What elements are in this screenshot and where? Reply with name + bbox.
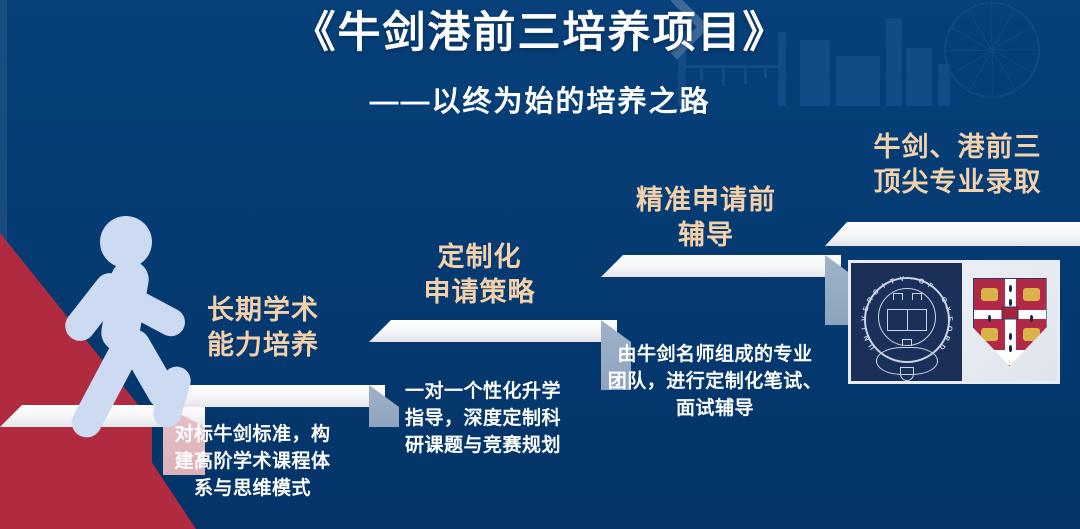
oxford-ring-char: R	[866, 296, 875, 304]
oxford-ring-char: F	[945, 316, 952, 321]
oxford-ring-char: O	[939, 296, 948, 304]
stair-step-2-description: 一对一个性化升学 指导，深度定制科 研课题与竞赛规划	[383, 379, 583, 460]
oxford-ring-char: I	[881, 283, 886, 290]
oxford-ring-char: E	[862, 306, 870, 313]
stair-step-3	[369, 320, 617, 342]
oxford-ring-char: O	[917, 278, 924, 286]
oxford-ring-char: V	[861, 316, 868, 321]
university-of-cambridge-coat-of-arms	[962, 263, 1057, 381]
stair-step-4-heading: 牛剑、港前三 顶尖专业录取	[845, 130, 1070, 200]
shield-lion-icon	[1023, 328, 1040, 341]
stair-step-1-description: 对标牛剑标准，构 建高阶学术课程体 系与思维模式	[155, 422, 350, 503]
oxford-ring-char: R	[942, 334, 950, 341]
cambridge-book-icon	[1001, 307, 1018, 320]
stair-step-2-heading: 定制化 申请策略	[382, 240, 577, 310]
oxford-ring-char: O	[945, 325, 953, 331]
university-logos-plate: UNIVERSITY·OF·OXFORD	[848, 260, 1060, 384]
oxford-ring-char: X	[943, 306, 951, 313]
ermine-mark	[1009, 299, 1012, 306]
stair-step-4-tread	[601, 255, 841, 277]
oxford-ring-char: ·	[934, 289, 941, 296]
ermine-mark	[1009, 345, 1012, 352]
oxford-ring-char: F	[926, 282, 933, 290]
university-of-oxford-crest: UNIVERSITY·OF·OXFORD	[851, 263, 962, 381]
ermine-mark	[1030, 315, 1033, 322]
stair-step-3-tread	[369, 320, 617, 342]
stair-step-5-tread	[825, 222, 1080, 246]
poster-canvas: 《牛剑港前三培养项目》 ——以终为始的培养之路 长期学术 能力培养 对标牛剑标准…	[0, 0, 1080, 529]
cambridge-shield	[973, 278, 1047, 366]
oxford-ring-char: I	[861, 327, 868, 330]
shield-lion-icon	[1023, 288, 1040, 301]
oxford-ring-char: D	[937, 342, 946, 350]
shield-lion-icon	[981, 328, 998, 341]
stair-step-3-heading: 精准申请前 辅导	[600, 183, 812, 253]
stair-step-1-heading: 长期学术 能力培养	[168, 293, 358, 363]
ermine-mark	[1009, 333, 1012, 340]
oxford-ring-char: U	[867, 342, 876, 350]
shield-lion-icon	[981, 288, 998, 301]
page-subtitle: ——以终为始的培养之路	[0, 78, 1080, 120]
ermine-mark	[988, 315, 991, 322]
oxford-ring-char: ·	[910, 276, 913, 283]
page-title: 《牛剑港前三培养项目》	[0, 0, 1080, 60]
oxford-ring-text: UNIVERSITY·OF·OXFORD	[855, 270, 959, 374]
oxford-ring-char: S	[872, 288, 880, 296]
stair-step-5	[825, 222, 1080, 246]
figure-head	[100, 216, 152, 268]
stair-step-4	[601, 255, 841, 277]
stair-step-3-description: 由牛剑名师组成的专业 团队，进行定制化笔试、 面试辅导	[596, 342, 834, 423]
oxford-ring-char: T	[889, 278, 895, 286]
oxford-ring-char: N	[863, 334, 871, 341]
ermine-mark	[1009, 285, 1012, 292]
oxford-ring-char: Y	[899, 276, 904, 283]
